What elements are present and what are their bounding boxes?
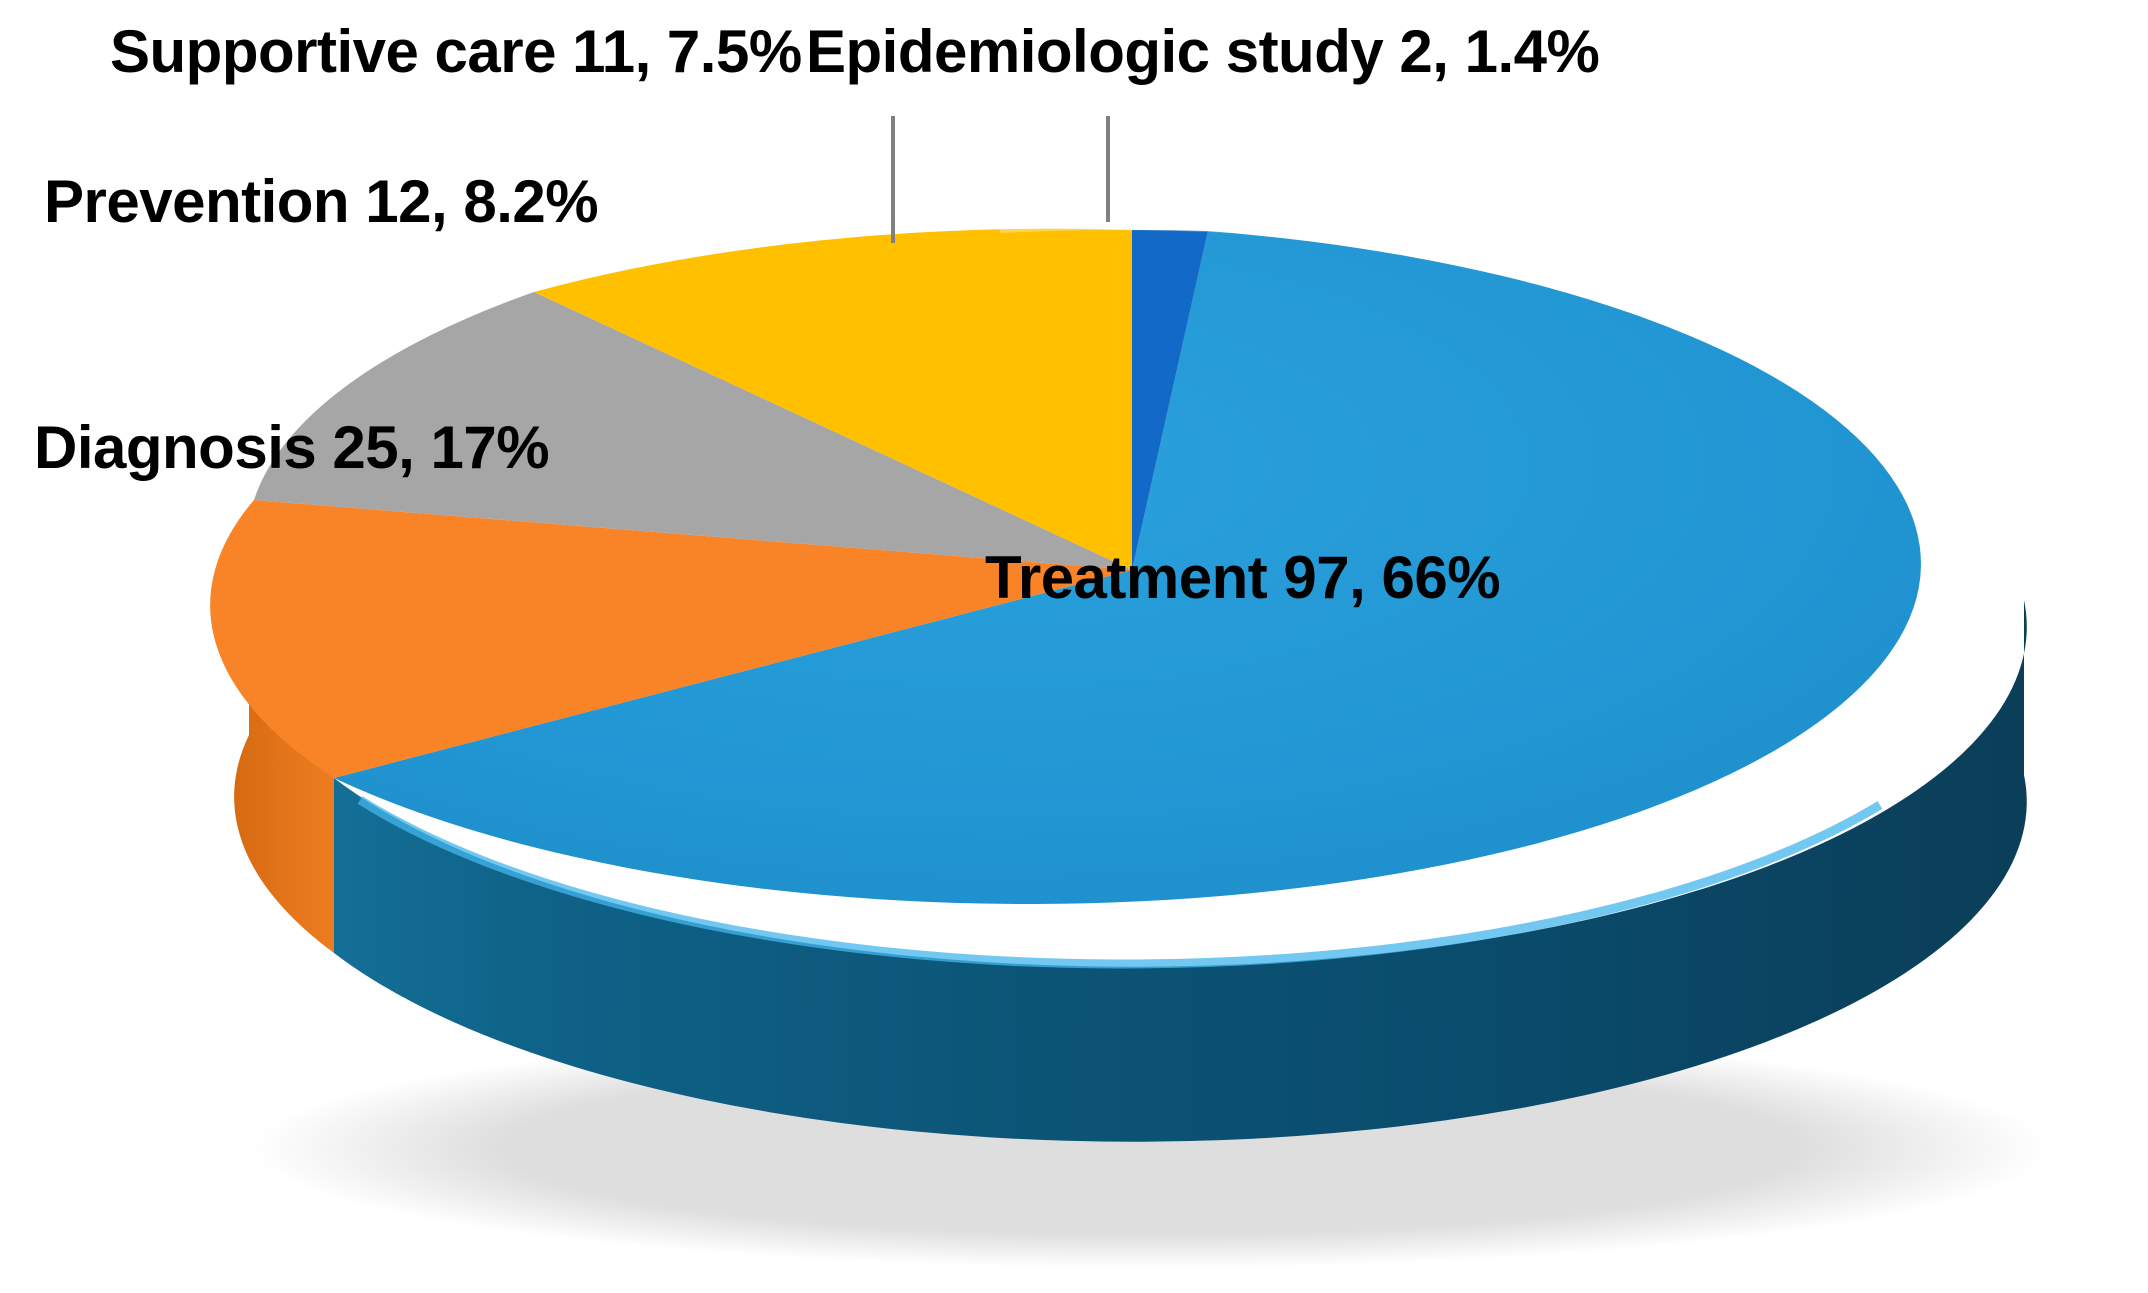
slice-label-diagnosis: Diagnosis 25, 17% xyxy=(34,418,549,478)
slice-label-epidemiologic-study: Epidemiologic study 2, 1.4% xyxy=(806,22,1599,82)
slice-label-treatment: Treatment 97, 66% xyxy=(985,548,1500,608)
pie-chart-figure: Supportive care 11, 7.5% Epidemiologic s… xyxy=(0,0,2148,1293)
slice-label-prevention: Prevention 12, 8.2% xyxy=(44,172,598,232)
slice-label-supportive-care: Supportive care 11, 7.5% xyxy=(110,22,802,82)
